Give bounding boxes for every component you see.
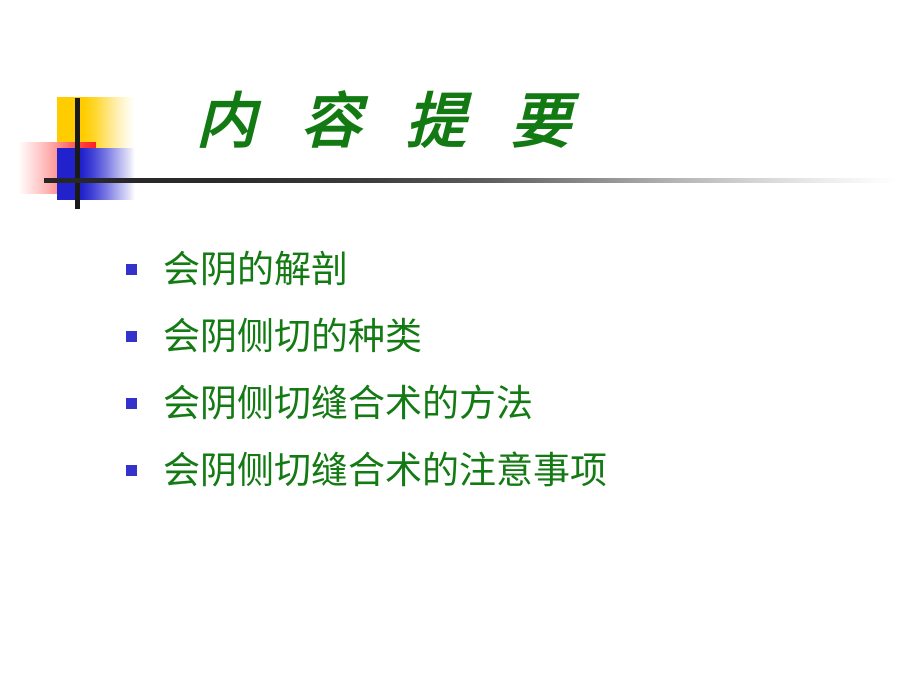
square-bullet-icon bbox=[126, 465, 137, 476]
yellow-gradient-square bbox=[57, 97, 135, 149]
bullet-list: 会阴的解剖 会阴侧切的种类 会阴侧切缝合术的方法 会阴侧切缝合术的注意事项 bbox=[126, 236, 886, 504]
list-item: 会阴侧切缝合术的注意事项 bbox=[126, 437, 886, 504]
horizontal-divider-rule bbox=[44, 178, 900, 183]
red-gradient-square bbox=[18, 142, 96, 194]
square-bullet-icon bbox=[126, 331, 137, 342]
list-item-label: 会阴侧切缝合术的注意事项 bbox=[163, 450, 607, 492]
slide-title: 内 容 提 要 bbox=[196, 84, 583, 160]
vertical-cross-bar bbox=[75, 98, 80, 209]
square-bullet-icon bbox=[126, 264, 137, 275]
list-item-label: 会阴的解剖 bbox=[163, 249, 348, 291]
list-item: 会阴侧切缝合术的方法 bbox=[126, 370, 886, 437]
square-bullet-icon bbox=[126, 398, 137, 409]
list-item-label: 会阴侧切的种类 bbox=[163, 316, 422, 358]
list-item: 会阴侧切的种类 bbox=[126, 303, 886, 370]
presentation-slide: 内 容 提 要 会阴的解剖 会阴侧切的种类 会阴侧切缝合术的方法 会阴侧切缝合术… bbox=[0, 0, 920, 690]
decorative-corner-motif bbox=[0, 0, 220, 230]
list-item: 会阴的解剖 bbox=[126, 236, 886, 303]
blue-gradient-square bbox=[57, 148, 135, 200]
list-item-label: 会阴侧切缝合术的方法 bbox=[163, 383, 533, 425]
